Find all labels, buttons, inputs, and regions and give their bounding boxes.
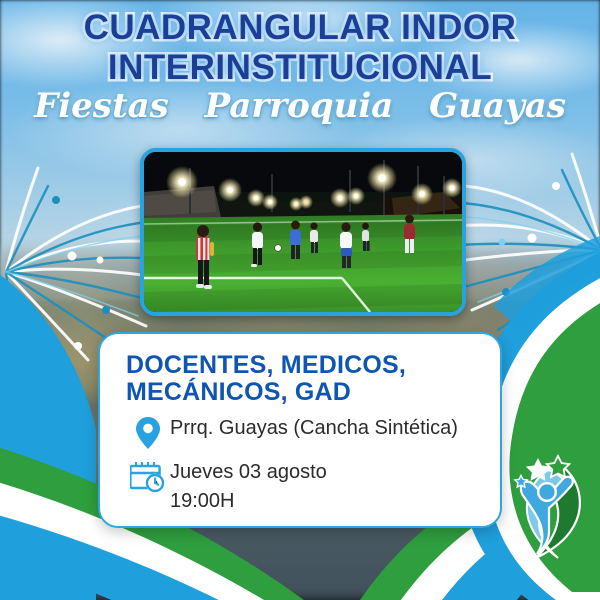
script-word-1: Fiestas (34, 86, 169, 126)
title-block: CUADRANGULAR INDOR INTERINSTITUCIONAL Fi… (0, 8, 600, 126)
map-pin-icon (126, 414, 170, 450)
soccer-field-photo (140, 148, 466, 316)
script-word-3: Guayas (429, 86, 566, 126)
schedule-time: 19:00H (170, 490, 235, 512)
subtitle-script: Fiestas Parroquia Guayas (0, 86, 600, 126)
schedule-date: Jueves 03 agosto (170, 461, 327, 483)
calendar-clock-icon (126, 458, 170, 494)
page-title-line-1: CUADRANGULAR INDOR (0, 8, 600, 48)
page-title-line-2: INTERINSTITUCIONAL (0, 48, 600, 88)
event-info-card: DOCENTES, MEDICOS, MECÁNICOS, GAD Prrq. … (98, 332, 502, 528)
schedule-row: Jueves 03 agosto 19:00H (126, 458, 474, 516)
event-poster: CUADRANGULAR INDOR INTERINSTITUCIONAL Fi… (0, 0, 600, 600)
schedule-text: Jueves 03 agosto 19:00H (170, 458, 327, 516)
location-row: Prrq. Guayas (Cancha Sintética) (126, 414, 474, 450)
location-text: Prrq. Guayas (Cancha Sintética) (170, 414, 458, 443)
script-word-2: Parroquia (205, 86, 394, 126)
sports-figure-logo (500, 440, 592, 560)
teams-title: DOCENTES, MEDICOS, MECÁNICOS, GAD (126, 352, 474, 406)
